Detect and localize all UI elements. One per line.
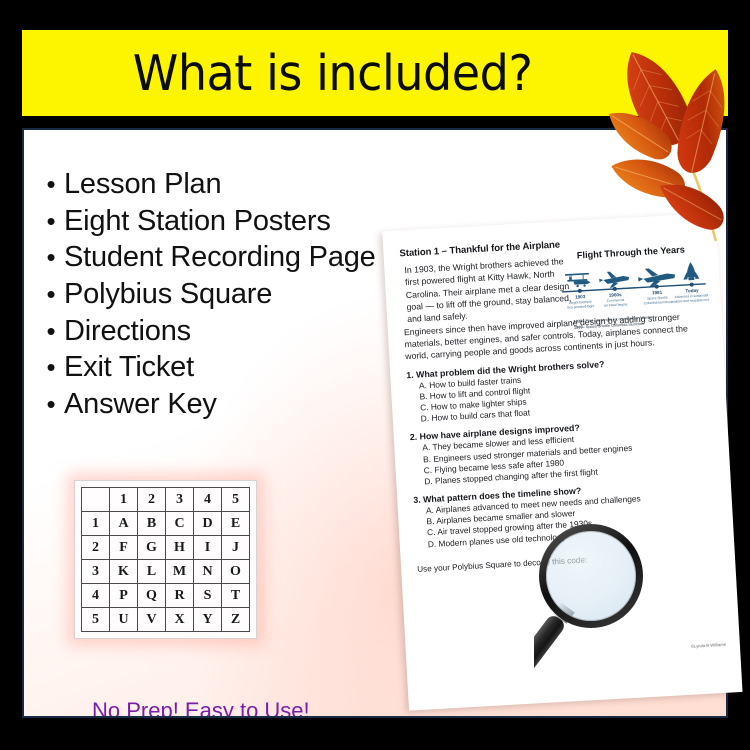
polybius-col-header: 4 xyxy=(194,488,222,512)
polybius-cell: S xyxy=(194,584,222,608)
timeline-caption: first powered flight xyxy=(567,304,594,309)
worksheet-decode-prompt: Use your Polybius Square to decode this … xyxy=(417,548,721,574)
list-item: • Directions xyxy=(38,315,438,349)
list-item-label: Polybius Square xyxy=(64,278,272,312)
polybius-col-header: 3 xyxy=(166,488,194,512)
timeline-year: Today xyxy=(685,288,699,294)
list-item: • Polybius Square xyxy=(38,278,438,312)
propeller-jet-icon xyxy=(599,271,630,289)
polybius-cell: K xyxy=(110,560,138,584)
tagline-text: No Prep! Easy to Use! xyxy=(92,698,310,718)
bullet-icon: • xyxy=(38,391,64,417)
polybius-cell: D xyxy=(194,512,222,536)
polybius-cell: Z xyxy=(222,608,250,632)
polybius-table: 1 2 3 4 5 1 A B C D E 2 F G xyxy=(81,487,250,632)
title-banner: What is included? xyxy=(22,30,728,116)
timeline-year: 1981 xyxy=(652,290,663,296)
list-item-label: Answer Key xyxy=(64,388,217,422)
list-item-label: Directions xyxy=(64,315,191,349)
polybius-cell: E xyxy=(222,512,250,536)
question-number: 3. xyxy=(413,495,421,505)
bullet-icon: • xyxy=(38,171,64,197)
polybius-cell: X xyxy=(166,608,194,632)
bullet-icon: • xyxy=(38,208,64,234)
polybius-cell: V xyxy=(138,608,166,632)
polybius-row-header: 5 xyxy=(82,608,110,632)
table-row: 4 P Q R S T xyxy=(82,584,250,608)
timeline-note-year: 1930– xyxy=(573,318,584,324)
polybius-col-header: 5 xyxy=(222,488,250,512)
list-item: • Answer Key xyxy=(38,388,438,422)
included-list: • Lesson Plan • Eight Station Posters • … xyxy=(38,168,438,424)
bullet-icon: • xyxy=(38,244,64,270)
polybius-cell: G xyxy=(138,536,166,560)
list-item-label: Exit Ticket xyxy=(64,351,194,385)
timeline-svg: 1903 Wright brothers' first powered flig… xyxy=(556,257,709,317)
worksheet-content: Station 1 – Thankful for the Airplane Fl… xyxy=(382,213,742,711)
timeline-caption: Columbia launches xyxy=(644,300,673,306)
polybius-cell: J xyxy=(222,536,250,560)
polybius-cell: O xyxy=(222,560,250,584)
polybius-cell: A xyxy=(110,512,138,536)
polybius-col-header: 2 xyxy=(138,488,166,512)
polybius-cell: P xyxy=(110,584,138,608)
rocket-icon xyxy=(682,262,699,281)
polybius-cell: F xyxy=(110,536,138,560)
polybius-cell: Q xyxy=(138,584,166,608)
polybius-cell: T xyxy=(222,584,250,608)
flight-timeline-graphic: Flight Through the Years xyxy=(556,243,710,331)
timeline-caption: air travel begins xyxy=(604,302,628,307)
table-row: 1 2 3 4 5 xyxy=(82,488,250,512)
polybius-square: 1 2 3 4 5 1 A B C D E 2 F G xyxy=(74,480,257,639)
worksheet-preview-image: Station 1 – Thankful for the Airplane Fl… xyxy=(382,213,742,711)
slide-canvas: What is included? • Lesson Plan • Eight … xyxy=(0,0,750,750)
timeline-note-year: 1969– xyxy=(574,324,585,330)
worksheet-paragraph-1: In 1903, the Wright brothers achieved th… xyxy=(404,255,575,326)
bullet-icon: • xyxy=(38,354,64,380)
timeline-year: 1903 xyxy=(575,294,586,300)
list-item-label: Eight Station Posters xyxy=(64,205,331,239)
polybius-cell: N xyxy=(194,560,222,584)
polybius-row-header: 3 xyxy=(82,560,110,584)
list-item: • Lesson Plan xyxy=(38,168,438,202)
bullet-icon: • xyxy=(38,281,64,307)
polybius-cell: U xyxy=(110,608,138,632)
table-row: 1 A B C D E xyxy=(82,512,250,536)
table-row: 5 U V X Y Z xyxy=(82,608,250,632)
question-number: 1. xyxy=(406,370,414,380)
polybius-cell: Y xyxy=(194,608,222,632)
polybius-row-header: 4 xyxy=(82,584,110,608)
polybius-cell: B xyxy=(138,512,166,536)
polybius-corner xyxy=(82,488,110,512)
polybius-row-header: 1 xyxy=(82,512,110,536)
table-row: 2 F G H I J xyxy=(82,536,250,560)
polybius-cell: R xyxy=(166,584,194,608)
list-item: • Student Recording Page xyxy=(38,241,438,275)
bullet-icon: • xyxy=(38,318,64,344)
list-item: • Exit Ticket xyxy=(38,351,438,385)
polybius-cell: I xyxy=(194,536,222,560)
biplane-icon xyxy=(565,273,591,288)
question-number: 2. xyxy=(410,432,418,442)
table-row: 3 K L M N O xyxy=(82,560,250,584)
worksheet-copyright: ©Lynda B Williams xyxy=(691,642,726,649)
polybius-row-header: 2 xyxy=(82,536,110,560)
worksheet-body: Flight Through the Years xyxy=(400,247,709,363)
page-title: What is included? xyxy=(133,49,533,98)
list-item: • Eight Station Posters xyxy=(38,205,438,239)
polybius-cell: H xyxy=(166,536,194,560)
list-item-label: Student Recording Page xyxy=(64,241,376,275)
polybius-cell: C xyxy=(166,512,194,536)
polybius-col-header: 1 xyxy=(110,488,138,512)
polybius-cell: M xyxy=(166,560,194,584)
list-item-label: Lesson Plan xyxy=(64,168,221,202)
polybius-cell: L xyxy=(138,560,166,584)
timeline-year: 1960s xyxy=(609,292,622,298)
